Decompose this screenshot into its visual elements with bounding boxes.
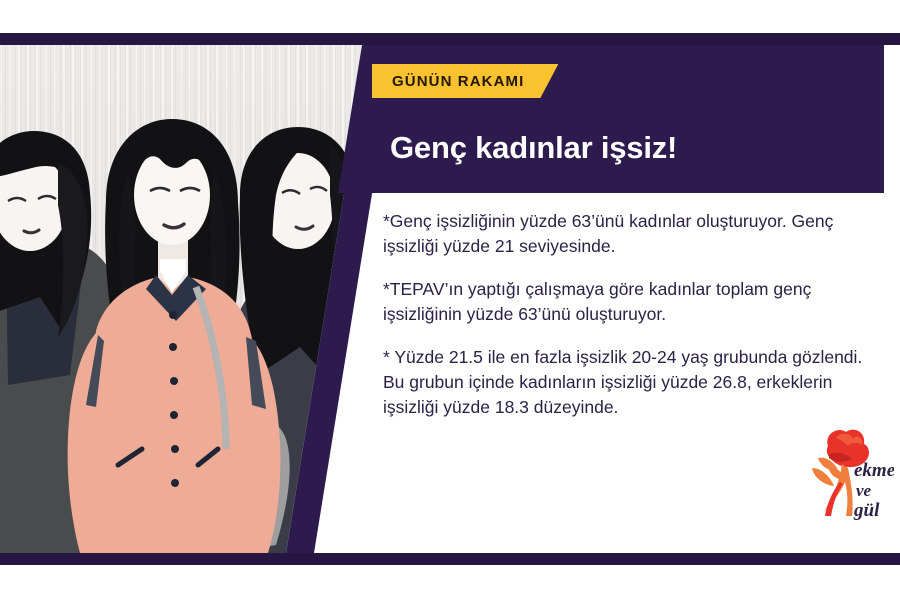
coat-button [171,445,179,453]
body-copy: *Genç işsizliğinin yüzde 63’ünü kadınlar… [383,209,883,421]
logo-text-ekmek: ekmek [854,460,894,481]
top-divider-bar [0,33,900,45]
logo-text-gul: gül [853,500,880,520]
kicker-label: GÜNÜN RAKAMI [392,73,524,90]
logo-artwork: ekmek ve gül [798,424,894,520]
coat-button [169,311,177,319]
page-title: Genç kadınlar işsiz! [390,130,677,166]
bottom-divider-bar [0,553,900,565]
ekmek-ve-gul-logo[interactable]: ekmek ve gül [798,424,894,520]
infographic-card: GÜNÜN RAKAMI Genç kadınlar işsiz! *Genç … [0,0,900,600]
logo-text-ve: ve [856,481,872,500]
coat-button [170,377,178,385]
coat-button [171,479,179,487]
coat-button [170,411,178,419]
coat-button [169,343,177,351]
paragraph-2: *TEPAV’ın yaptığı çalışmaya göre kadınla… [383,277,883,328]
kicker-badge: GÜNÜN RAKAMI [372,64,558,98]
rose-stem-accent [825,482,843,516]
paragraph-3: * Yüzde 21.5 ile en fazla işsizlik 20-24… [383,345,883,421]
paragraph-1: *Genç işsizliğinin yüzde 63’ünü kadınlar… [383,209,883,260]
